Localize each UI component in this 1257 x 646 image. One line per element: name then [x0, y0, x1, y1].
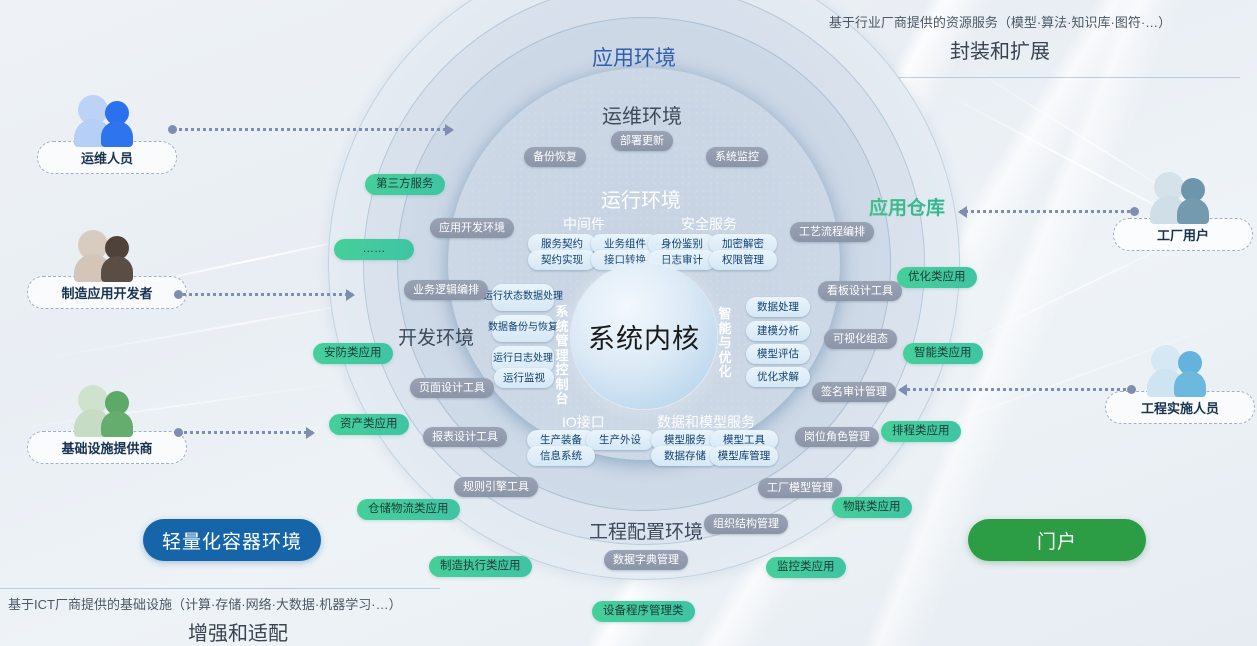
repo-pill-third-party-service[interactable]: 第三方服务 [365, 174, 445, 195]
ring-title-config-environment: 工程配置环境 [589, 517, 703, 544]
repo-pill-asset-apps[interactable]: 资产类应用 [329, 414, 409, 435]
dev-pill-dashboard-design-tool[interactable]: 看板设计工具 [818, 281, 902, 301]
connector-implementation-staff-to-repo [900, 388, 1132, 394]
dev-pill-page-design-tool[interactable]: 页面设计工具 [410, 378, 494, 398]
caption-enhancement-adaptation: 基于ICT厂商提供的基础设施（计算·存储·网络·大数据·机器学习·…） 增强和适… [8, 594, 468, 646]
portal-button[interactable]: 门户 [968, 519, 1146, 561]
dev-pill-post-role-mgmt[interactable]: 岗位角色管理 [795, 427, 879, 447]
ops-pill-backup-restore[interactable]: 备份恢复 [524, 147, 586, 167]
caption-top-sub: 基于行业厂商提供的资源服务（模型·算法·知识库·图符·…） [760, 12, 1240, 31]
dev-pill-process-flow-orchestration[interactable]: 工艺流程编排 [790, 222, 874, 242]
section-label-intelligence-optimization: 智能与优化 [715, 307, 735, 380]
persona-implementation-staff: 工程实施人员 [1105, 345, 1255, 424]
repo-pill-warehouse-logistics-apps[interactable]: 仓储物流类应用 [357, 499, 460, 520]
dev-pill-signature-audit-mgmt[interactable]: 签名审计管理 [812, 382, 896, 402]
dev-pill-rule-engine-tool[interactable]: 规则引擎工具 [454, 477, 538, 497]
connector-ops-staff-to-ring [172, 128, 452, 134]
caption-bottom-main: 增强和适配 [8, 617, 468, 646]
dev-pill-factory-model-mgmt[interactable]: 工厂模型管理 [758, 478, 842, 498]
console-pill-data-backup-recovery-label: 数据备份与恢复 [488, 323, 558, 334]
intel-pill-model-evaluation[interactable]: 模型评估 [746, 344, 810, 364]
ring-title-application-environment: 应用环境 [592, 42, 676, 72]
config-pill-org-structure-mgmt[interactable]: 组织结构管理 [704, 514, 788, 534]
repo-pill-iot-apps[interactable]: 物联类应用 [832, 497, 912, 518]
caption-top-main: 封装和扩展 [760, 35, 1240, 64]
section-label-system-console: 系统管理控制台 [552, 305, 572, 407]
io-pill-information-system[interactable]: 信息系统 [527, 446, 595, 466]
repo-pill-scheduling-apps[interactable]: 排程类应用 [881, 421, 961, 442]
caption-bottom-sub: 基于ICT厂商提供的基础设施（计算·存储·网络·大数据·机器学习·…） [8, 594, 468, 613]
caption-encapsulation-extension: 基于行业厂商提供的资源服务（模型·算法·知识库·图符·…） 封装和扩展 [760, 12, 1240, 64]
connector-factory-user-to-repo [960, 210, 1135, 216]
dev-pill-visual-configuration[interactable]: 可视化组态 [824, 329, 897, 349]
intel-pill-data-processing[interactable]: 数据处理 [746, 297, 810, 317]
system-kernel-core: 系统内核 [571, 263, 717, 409]
ring-title-application-repository: 应用仓库 [869, 193, 945, 220]
intel-pill-optimization-solving[interactable]: 优化求解 [746, 367, 810, 387]
factory-user-people-icon [1150, 172, 1216, 226]
console-pill-runtime-status-data-label: 运行状态数据处理 [483, 292, 563, 303]
ring-title-runtime-environment: 运行环境 [601, 184, 681, 213]
persona-infra-provider: 基础设施提供商 [27, 385, 187, 464]
persona-app-developer: 制造应用开发者 [27, 230, 187, 309]
ops-pill-system-monitor[interactable]: 系统监控 [706, 147, 768, 167]
repo-pill-monitoring-apps[interactable]: 监控类应用 [766, 557, 846, 578]
data-pill-model-repo-mgmt[interactable]: 模型库管理 [710, 446, 778, 466]
persona-ops-staff: 运维人员 [37, 95, 177, 174]
config-pill-data-dictionary-mgmt[interactable]: 数据字典管理 [604, 550, 688, 570]
repo-pill-security-apps[interactable]: 安防类应用 [313, 343, 393, 364]
section-label-io-interface: IO接口 [562, 412, 605, 432]
ops-pill-deploy-update[interactable]: 部署更新 [611, 131, 673, 151]
io-pill-production-peripheral[interactable]: 生产外设 [586, 430, 654, 450]
repo-pill-device-program-mgmt[interactable]: 设备程序管理类 [592, 601, 695, 622]
section-label-data-model-service: 数据和模型服务 [657, 412, 755, 432]
console-pill-data-backup-recovery[interactable]: 数据备份与恢复 [492, 315, 554, 342]
console-pill-runtime-monitor[interactable]: 运行监视 [494, 368, 554, 388]
system-kernel-label: 系统内核 [588, 317, 700, 356]
console-pill-runtime-log-label: 运行日志处理 [493, 354, 553, 365]
architecture-diagram: 系统内核 应用环境 运维环境 开发环境 工程配置环境 运行环境 应用仓库 备份恢… [0, 0, 1257, 646]
app-developer-people-icon [74, 230, 140, 284]
ring-title-operations-environment: 运维环境 [602, 100, 682, 129]
repo-pill-optimization-apps[interactable]: 优化类应用 [897, 267, 977, 288]
intel-pill-modeling-analysis[interactable]: 建模分析 [746, 321, 810, 341]
connector-infra-provider-to-ring [178, 431, 313, 437]
infra-provider-people-icon [74, 385, 140, 439]
bottom-divider [0, 588, 440, 589]
repo-pill-intelligent-apps[interactable]: 智能类应用 [903, 343, 983, 364]
section-label-middleware: 中间件 [563, 214, 605, 234]
security-pill-permission-mgmt[interactable]: 权限管理 [709, 250, 777, 270]
dev-pill-report-design-tool[interactable]: 报表设计工具 [423, 427, 507, 447]
dev-pill-app-dev-environment[interactable]: 应用开发环境 [430, 218, 514, 238]
console-pill-runtime-status-data[interactable]: 运行状态数据处理 [492, 284, 554, 311]
implementation-staff-people-icon [1147, 345, 1213, 399]
lightweight-container-environment-button[interactable]: 轻量化容器环境 [143, 519, 321, 561]
ops-staff-people-icon [74, 95, 140, 149]
repo-pill-ellipsis[interactable]: …… [334, 239, 414, 260]
dev-pill-business-logic-orchestration[interactable]: 业务逻辑编排 [404, 280, 488, 300]
middleware-pill-contract-impl[interactable]: 契约实现 [528, 250, 596, 270]
section-label-security-service: 安全服务 [681, 214, 737, 234]
connector-app-developer-to-ring [178, 293, 353, 299]
repo-pill-manufacturing-execution-apps[interactable]: 制造执行类应用 [429, 556, 532, 577]
data-pill-data-storage[interactable]: 数据存储 [651, 446, 719, 466]
ring-title-development-environment: 开发环境 [398, 323, 474, 350]
